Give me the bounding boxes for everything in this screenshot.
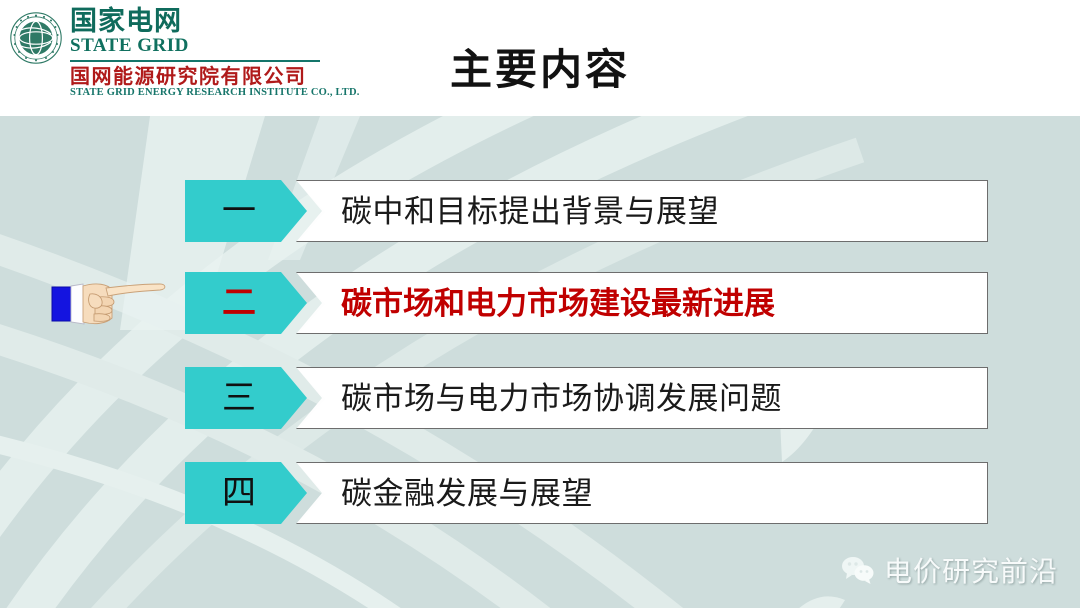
pointing-hand-cursor	[50, 272, 180, 334]
agenda-number-3: 三	[222, 381, 256, 415]
agenda-item-2[interactable]: 二 碳市场和电力市场建设最新进展	[185, 272, 988, 334]
agenda-number-badge-2: 二	[185, 272, 307, 334]
watermark-text: 电价研究前沿	[884, 550, 1058, 590]
agenda-label-box-4: 碳金融发展与展望	[296, 462, 988, 524]
slide-header: 国家电网 STATE GRID 国网能源研究院有限公司 STATE GRID E…	[0, 0, 1080, 116]
agenda-item-1[interactable]: 一 碳中和目标提出背景与展望	[185, 180, 988, 242]
agenda-label-box-1: 碳中和目标提出背景与展望	[296, 180, 988, 242]
agenda-number-2: 二	[222, 286, 256, 320]
watermark: 电价研究前沿	[841, 550, 1058, 590]
agenda-label-2: 碳市场和电力市场建设最新进展	[341, 289, 775, 320]
agenda-label-box-3: 碳市场与电力市场协调发展问题	[296, 367, 988, 429]
brand-name-cn: 国家电网	[70, 8, 360, 36]
agenda-label-3: 碳市场与电力市场协调发展问题	[341, 384, 782, 415]
agenda-number-4: 四	[222, 476, 256, 510]
page-title: 主要内容	[0, 36, 1080, 97]
agenda-label-box-2: 碳市场和电力市场建设最新进展	[296, 272, 988, 334]
agenda-number-1: 一	[222, 194, 256, 228]
agenda-number-badge-4: 四	[185, 462, 307, 524]
agenda-item-4[interactable]: 四 碳金融发展与展望	[185, 462, 988, 524]
agenda-number-badge-3: 三	[185, 367, 307, 429]
agenda-number-badge-1: 一	[185, 180, 307, 242]
agenda-label-1: 碳中和目标提出背景与展望	[341, 197, 719, 228]
wechat-icon	[841, 555, 875, 585]
agenda-item-3[interactable]: 三 碳市场与电力市场协调发展问题	[185, 367, 988, 429]
agenda-label-4: 碳金融发展与展望	[341, 479, 593, 510]
slide-canvas: 国家电网 STATE GRID 国网能源研究院有限公司 STATE GRID E…	[0, 0, 1080, 608]
